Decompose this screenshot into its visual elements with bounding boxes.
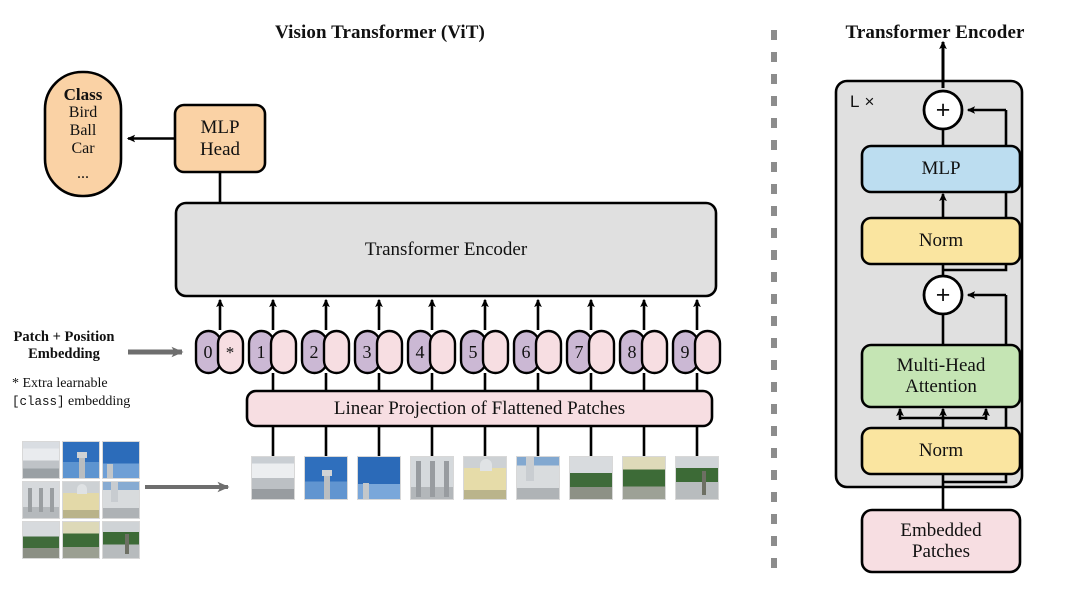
- extra-note-line1: * Extra learnable: [12, 376, 108, 391]
- encoder-repeat-label: L ×: [850, 92, 875, 112]
- embedded-patches-block: [862, 510, 1020, 572]
- source-patch-r1c2: [62, 441, 100, 479]
- flat-patch-8: [622, 456, 666, 500]
- transformer-encoder-box: [176, 203, 716, 296]
- flat-patch-2: [304, 456, 348, 500]
- flat-patch-5: [463, 456, 507, 500]
- source-patch-r2c1: [22, 481, 60, 519]
- token-to-encoder-arrows: [220, 300, 697, 330]
- flat-patch-6: [516, 456, 560, 500]
- flat-patch-7: [569, 456, 613, 500]
- source-patch-r2c3: [102, 481, 140, 519]
- flat-patch-1: [251, 456, 295, 500]
- patch-position-embedding-tokens: [196, 331, 720, 373]
- linproj-to-patch-connectors: [273, 426, 697, 456]
- source-patch-r3c1: [22, 521, 60, 559]
- flat-patch-9: [675, 456, 719, 500]
- source-patch-r1c3: [102, 441, 140, 479]
- source-patch-r1c1: [22, 441, 60, 479]
- patch-position-embedding-label: Patch + Position Embedding: [8, 329, 120, 363]
- source-patch-r2c2: [62, 481, 100, 519]
- residual-add-bottom: [924, 276, 962, 314]
- residual-add-top: [924, 91, 962, 129]
- extra-note-class-token: [class]: [12, 395, 65, 409]
- linear-projection-box: [247, 391, 712, 426]
- norm-bottom-block: [862, 428, 1020, 474]
- token-to-linproj-connectors: [273, 373, 697, 391]
- extra-note-line2-tail: embedding: [65, 394, 131, 409]
- mlp-block: [862, 146, 1020, 192]
- flat-patch-4: [410, 456, 454, 500]
- multi-head-attention-block: [862, 345, 1020, 407]
- class-box: [45, 72, 121, 196]
- extra-learnable-note: * Extra learnable [class] embedding: [12, 375, 142, 410]
- norm-top-block: [862, 218, 1020, 264]
- diagram-vector-layer: [0, 0, 1080, 593]
- vit-architecture-figure: Vision Transformer (ViT) Transformer Enc…: [0, 0, 1080, 593]
- mlp-head-box: [175, 105, 265, 172]
- source-patch-r3c3: [102, 521, 140, 559]
- source-patch-r3c2: [62, 521, 100, 559]
- flat-patch-3: [357, 456, 401, 500]
